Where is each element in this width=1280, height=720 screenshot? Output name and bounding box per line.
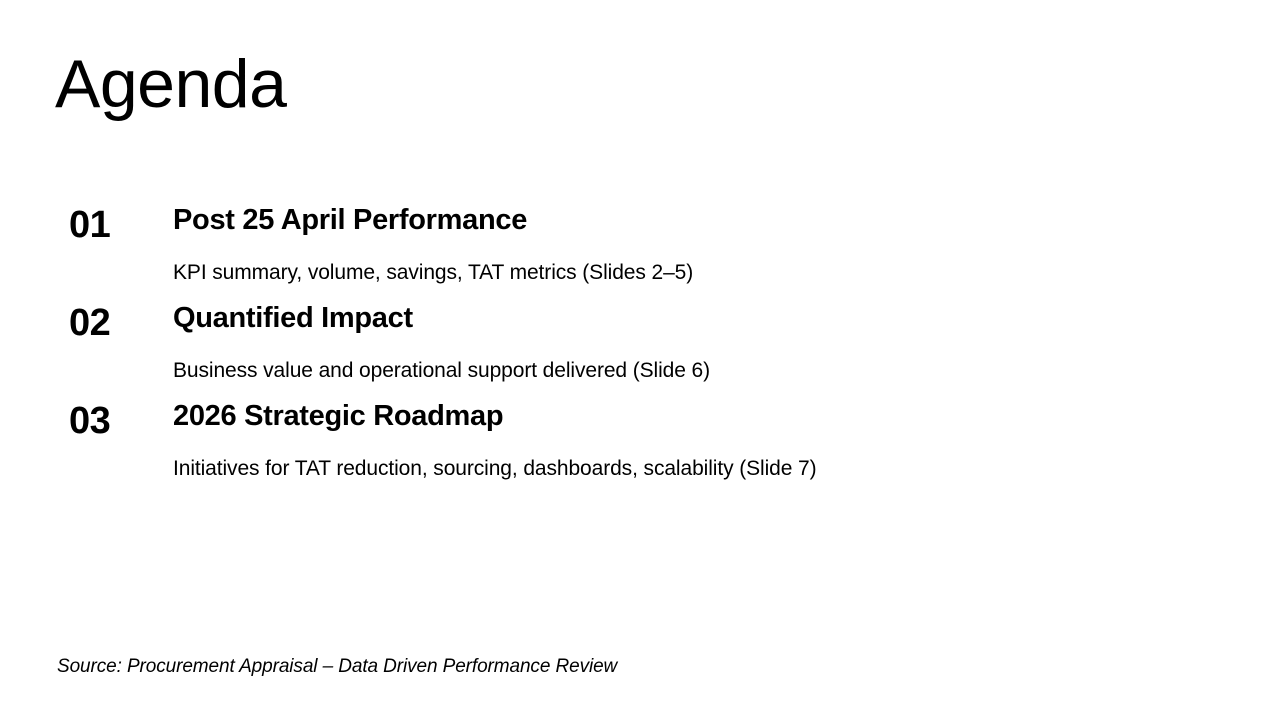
agenda-item-subtitle: Initiatives for TAT reduction, sourcing,…	[173, 458, 817, 479]
list-item: 03 2026 Strategic Roadmap Initiatives fo…	[0, 392, 1280, 490]
agenda-item-heading: 2026 Strategic Roadmap	[173, 402, 503, 431]
agenda-item-heading: Post 25 April Performance	[173, 206, 527, 235]
agenda-item-subtitle: Business value and operational support d…	[173, 360, 710, 381]
agenda-list: 01 Post 25 April Performance KPI summary…	[0, 196, 1280, 490]
agenda-item-number: 01	[69, 206, 110, 244]
agenda-item-subtitle: KPI summary, volume, savings, TAT metric…	[173, 262, 693, 283]
page-title: Agenda	[55, 50, 286, 118]
list-item: 02 Quantified Impact Business value and …	[0, 294, 1280, 392]
agenda-item-heading: Quantified Impact	[173, 304, 413, 333]
agenda-slide: Agenda 01 Post 25 April Performance KPI …	[0, 0, 1280, 720]
source-note: Source: Procurement Appraisal – Data Dri…	[57, 657, 617, 676]
agenda-item-number: 03	[69, 402, 110, 440]
list-item: 01 Post 25 April Performance KPI summary…	[0, 196, 1280, 294]
agenda-item-number: 02	[69, 304, 110, 342]
